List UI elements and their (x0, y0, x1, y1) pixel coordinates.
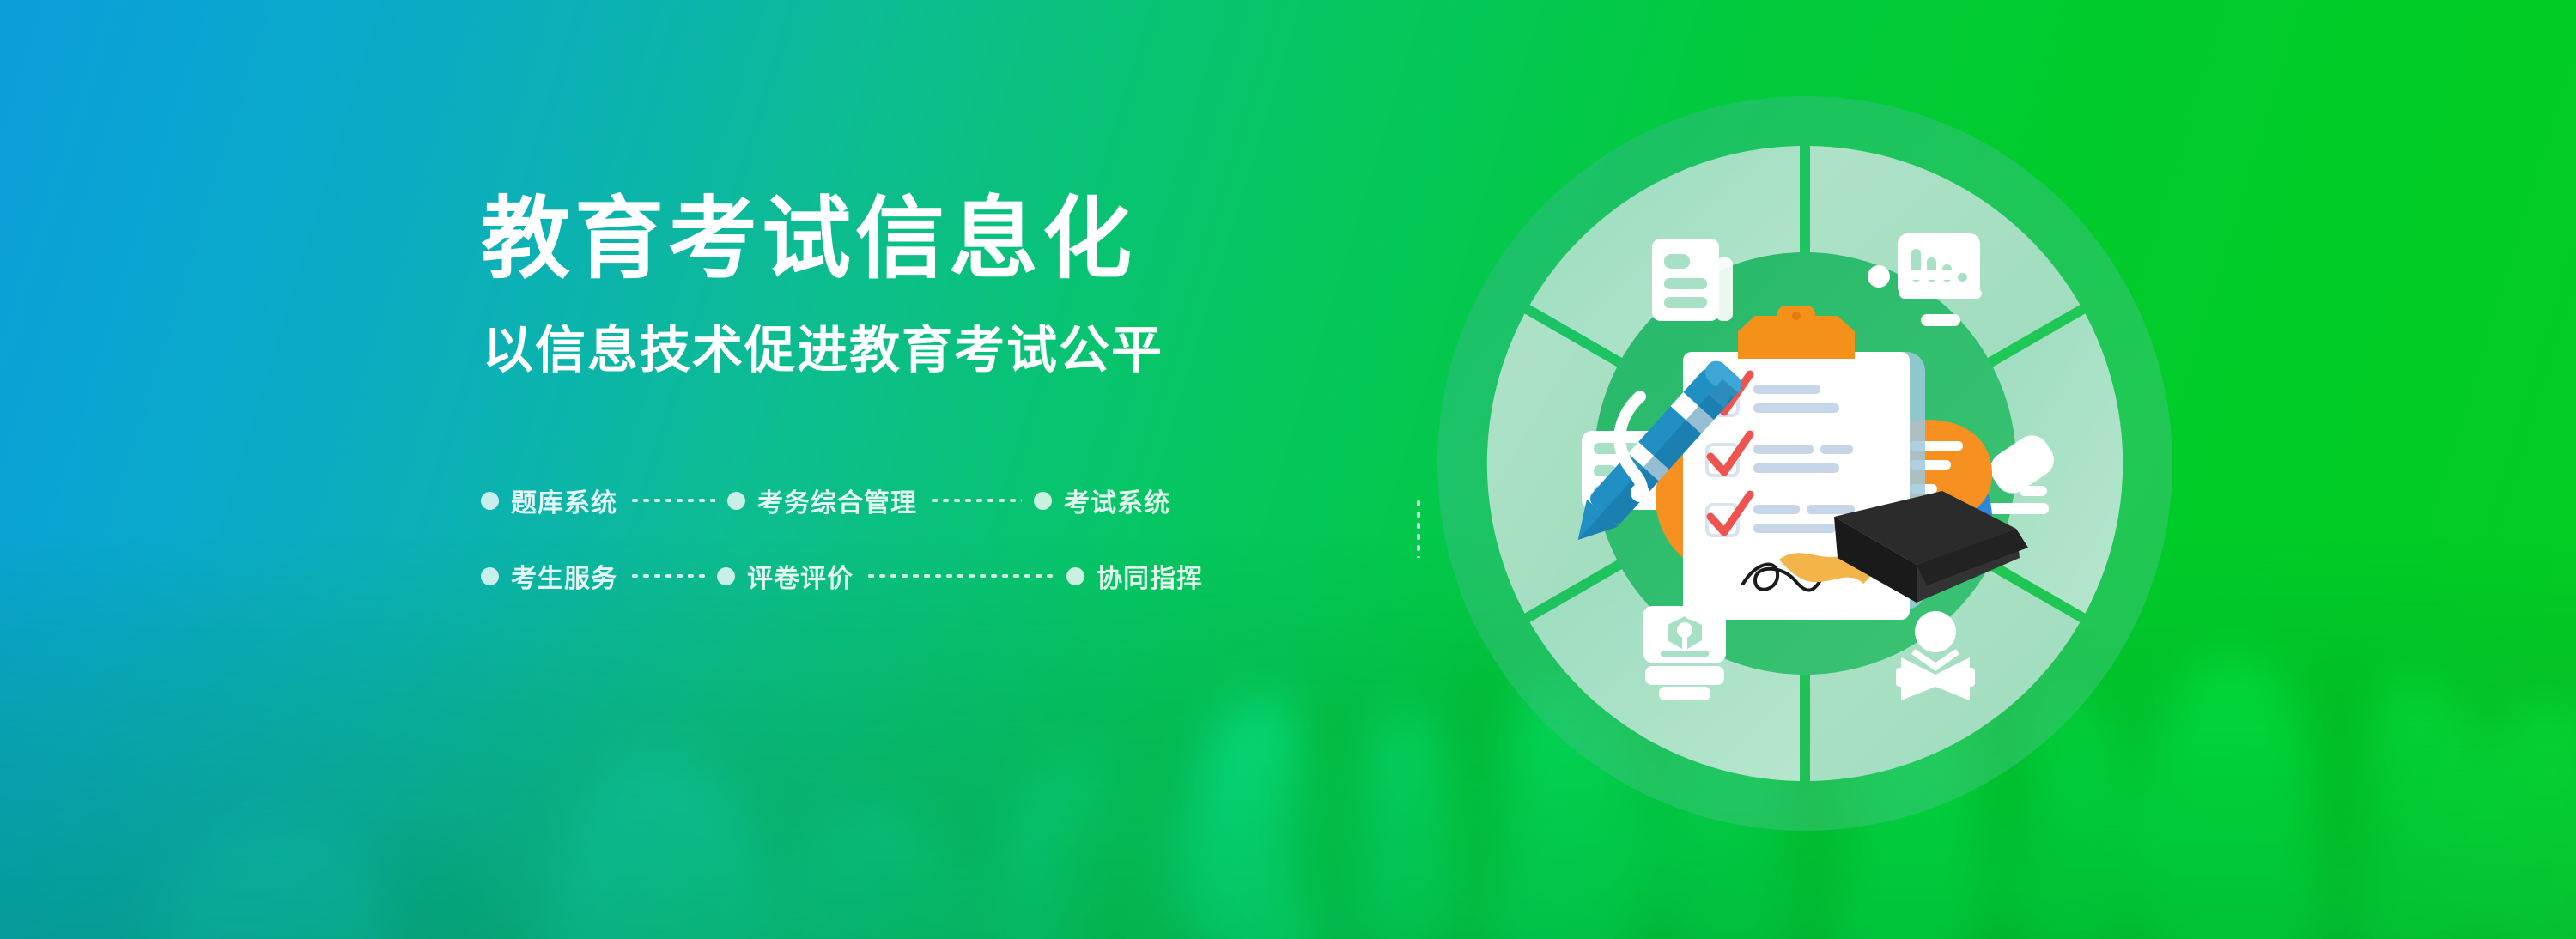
bullet-dot-icon (727, 492, 745, 510)
page-title: 教育考试信息化 (481, 191, 1340, 287)
feature-question-bank[interactable]: 题库系统 (481, 482, 617, 519)
feature-label: 协同指挥 (1097, 557, 1203, 595)
feature-label: 考务综合管理 (757, 482, 917, 519)
bullet-dot-icon (1066, 567, 1084, 585)
dotted-connector (866, 574, 1054, 578)
feature-label: 考试系统 (1064, 482, 1170, 519)
feature-label: 评卷评价 (747, 557, 854, 595)
dotted-connector (629, 499, 715, 502)
feature-row-1: 题库系统 考务综合管理 考试系统 (481, 481, 1170, 520)
bullet-dot-icon (481, 492, 499, 510)
page-subtitle: 以信息技术促进教育考试公平 (483, 309, 1340, 382)
feature-row-2: 考生服务 评卷评价 协同指挥 (481, 556, 1203, 596)
clipboard-clip-hole (1792, 312, 1801, 320)
pen-clip-end (1631, 483, 1649, 502)
feature-grading-evaluation[interactable]: 评卷评价 (717, 557, 854, 595)
feature-joint-command[interactable]: 协同指挥 (1066, 557, 1203, 595)
wheel-illustration (1436, 94, 2174, 833)
dotted-connector-vertical (1417, 498, 1420, 558)
bullet-dot-icon (717, 567, 735, 585)
banner-hero: 教育考试信息化 以信息技术促进教育考试公平 题库系统 考务综合管理 考试系统 (0, 0, 2576, 939)
feature-label: 考生服务 (511, 557, 617, 595)
bullet-dot-icon (481, 567, 499, 585)
crowd-blur-texture (0, 458, 2576, 939)
feature-exam-system[interactable]: 考试系统 (1034, 482, 1170, 519)
dotted-connector (929, 499, 1022, 502)
feature-label: 题库系统 (511, 482, 617, 519)
feature-list: 题库系统 考务综合管理 考试系统 考生服务 评卷评价 (481, 481, 1254, 618)
hero-text-block: 教育考试信息化 以信息技术促进教育考试公平 (481, 191, 1340, 382)
feature-candidate-service[interactable]: 考生服务 (481, 557, 617, 595)
bottom-shade-overlay (0, 536, 2576, 939)
feature-exam-admin[interactable]: 考务综合管理 (727, 482, 917, 519)
dotted-connector (629, 574, 705, 578)
bullet-dot-icon (1034, 492, 1052, 510)
